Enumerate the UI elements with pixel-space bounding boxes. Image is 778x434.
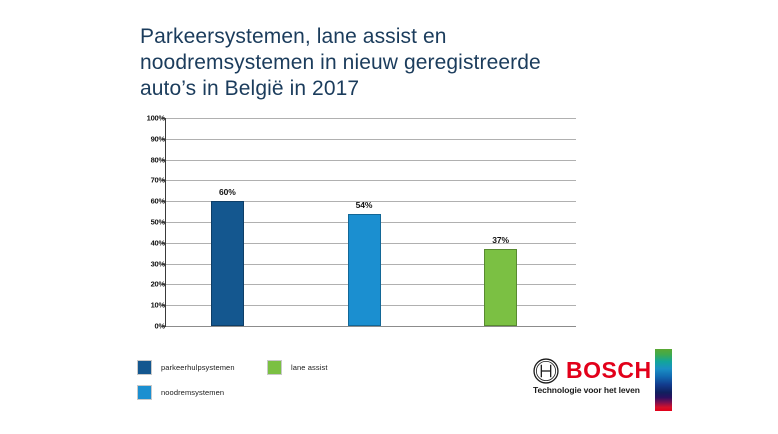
bosch-tagline: Technologie voor het leven <box>533 385 640 395</box>
legend-swatch-icon <box>137 385 152 400</box>
legend-item-parkeerhulpsystemen[interactable]: parkeerhulpsystemen <box>137 360 235 375</box>
bar-parkeerhulpsystemen[interactable] <box>211 201 244 326</box>
page-title: Parkeersystemen, lane assist en noodrems… <box>140 24 660 102</box>
bosch-armature-emblem-icon <box>533 358 559 384</box>
bosch-wordmark: BOSCH <box>566 357 652 383</box>
y-axis: 100%90%80%70%60%50%40%30%20%10%0% <box>132 118 165 326</box>
bar-lane-assist[interactable] <box>484 249 517 326</box>
legend-item-label: lane assist <box>291 363 328 372</box>
legend-item-label: parkeerhulpsystemen <box>161 363 235 372</box>
legend-item-lane-assist[interactable]: lane assist <box>267 360 328 375</box>
legend-item-label: noodremsystemen <box>161 388 224 397</box>
bar-group: 60% <box>211 118 244 326</box>
axis-baseline <box>166 326 576 327</box>
bar-value-label: 37% <box>492 235 509 245</box>
bar-value-label: 60% <box>219 187 236 197</box>
legend-item-noodremsystemen[interactable]: noodremsystemen <box>137 385 224 400</box>
chart-plot-wrapper: 100%90%80%70%60%50%40%30%20%10%0% 60%54%… <box>132 118 582 336</box>
bars-layer: 60%54%37% <box>165 118 575 326</box>
bar-noodremsystemen[interactable] <box>348 214 381 326</box>
bar-group: 37% <box>484 118 517 326</box>
legend-swatch-icon <box>267 360 282 375</box>
legend-swatch-icon <box>137 360 152 375</box>
bar-value-label: 54% <box>356 200 373 210</box>
bar-group: 54% <box>348 118 381 326</box>
chart-legend: parkeerhulpsystemen noodremsystemen lane… <box>137 360 397 408</box>
bosch-supergraphic-bar <box>655 349 672 411</box>
y-axis-tick-mark <box>162 326 166 327</box>
